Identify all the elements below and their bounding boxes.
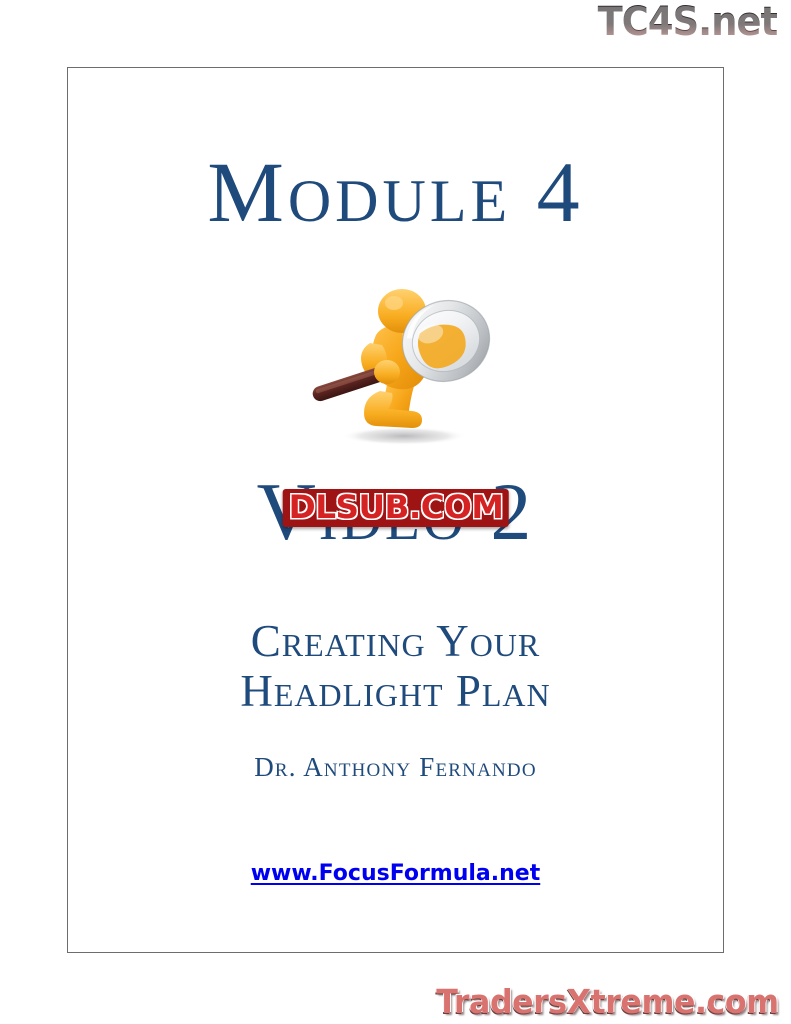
watermark-center-overlay: DLSUB.COM (282, 489, 509, 527)
watermark-center-overlay-text: DLSUB.COM (288, 491, 503, 524)
page-subtitle-line2: Headlight Plan (68, 666, 723, 716)
page-subtitle-line1: Creating Your (251, 616, 541, 666)
page-title-module: Module 4 (68, 146, 723, 239)
watermark-top-right: TC4S.net (597, 2, 777, 42)
magnifying-glass-person-icon (284, 273, 514, 448)
document-page: Module 4 (67, 67, 724, 953)
page-subtitle: Creating Your Headlight Plan (68, 616, 723, 717)
website-link[interactable]: www.FocusFormula.net (251, 861, 541, 886)
page-content: Module 4 (68, 68, 723, 952)
author-name: Dr. Anthony Fernando (68, 753, 723, 782)
watermark-bottom-right: TradersXtreme.com (437, 985, 779, 1018)
website-link-wrap: www.FocusFormula.net (68, 861, 723, 886)
video-title-block: Video 2 DLSUB.COM (68, 468, 723, 578)
